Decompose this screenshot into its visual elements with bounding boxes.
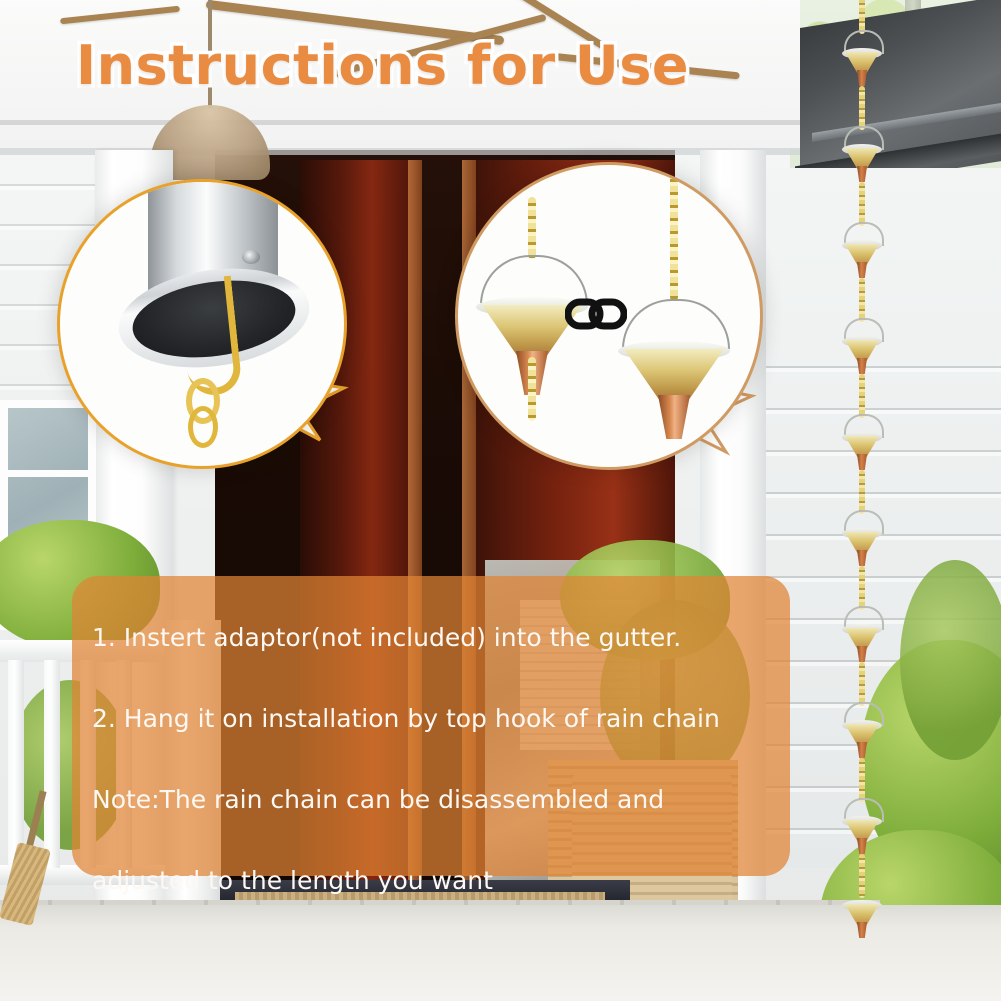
cup-stem (857, 70, 867, 86)
rain-chain-link (842, 374, 882, 468)
chain-segment (859, 854, 865, 898)
cup-body (624, 349, 724, 401)
chain-segment (859, 470, 865, 514)
chain-segment (859, 758, 865, 802)
cup-stem (857, 646, 867, 662)
rain-chain-link (842, 566, 882, 660)
chain-segment-lower (528, 357, 536, 421)
window-mullion (0, 470, 96, 477)
cup-stem (857, 742, 867, 758)
rain-chain-cup-right (618, 293, 730, 425)
instruction-note-line-2: adjusted to the length you want (92, 845, 770, 917)
baluster (8, 660, 24, 868)
cup-stem (658, 395, 690, 439)
cup-stem (857, 922, 867, 938)
chain-link-icon (565, 296, 627, 332)
rain-chain-link (842, 758, 882, 852)
cup-stem (857, 550, 867, 566)
chain-segment (859, 86, 865, 130)
chain-segment (859, 566, 865, 610)
rain-chain-link (842, 182, 882, 276)
chain-segment (859, 278, 865, 322)
soffit-seam (0, 120, 800, 125)
rain-chain-link (842, 0, 882, 84)
chain-segment (859, 662, 865, 706)
chain-segment (859, 0, 865, 34)
instruction-step-1: 1. Instert adaptor(not included) into th… (92, 602, 770, 674)
chain-segment (859, 374, 865, 418)
cup-stem (857, 454, 867, 470)
page-title: Instructions for Use (76, 34, 689, 97)
cup-stem (857, 838, 867, 854)
rain-chain-link (842, 662, 882, 756)
instruction-step-2: 2. Hang it on installation by top hook o… (92, 683, 770, 755)
hook-ring (188, 406, 218, 448)
instructions-panel: 1. Instert adaptor(not included) into th… (72, 576, 790, 876)
cup-stem (857, 262, 867, 278)
rain-chain (842, 0, 882, 1000)
foliage-right-vine (900, 560, 1001, 760)
rain-chain-link (842, 86, 882, 180)
callout-gutter-adapter (57, 179, 347, 469)
cup-stem (857, 358, 867, 374)
product-instruction-image: Instructions for Use 1. Instert adaptor(… (0, 0, 1001, 1001)
adapter-screw (242, 250, 260, 264)
instruction-note-line-1: Note:The rain chain can be disassembled … (92, 764, 770, 836)
chain-segment (859, 182, 865, 226)
baluster (44, 660, 60, 868)
rain-chain-link (842, 278, 882, 372)
cup-stem (857, 166, 867, 182)
chain-segment-upper (670, 173, 678, 301)
rain-chain-link (842, 470, 882, 564)
rain-chain-link (842, 854, 882, 948)
chain-segment-upper (528, 197, 536, 259)
